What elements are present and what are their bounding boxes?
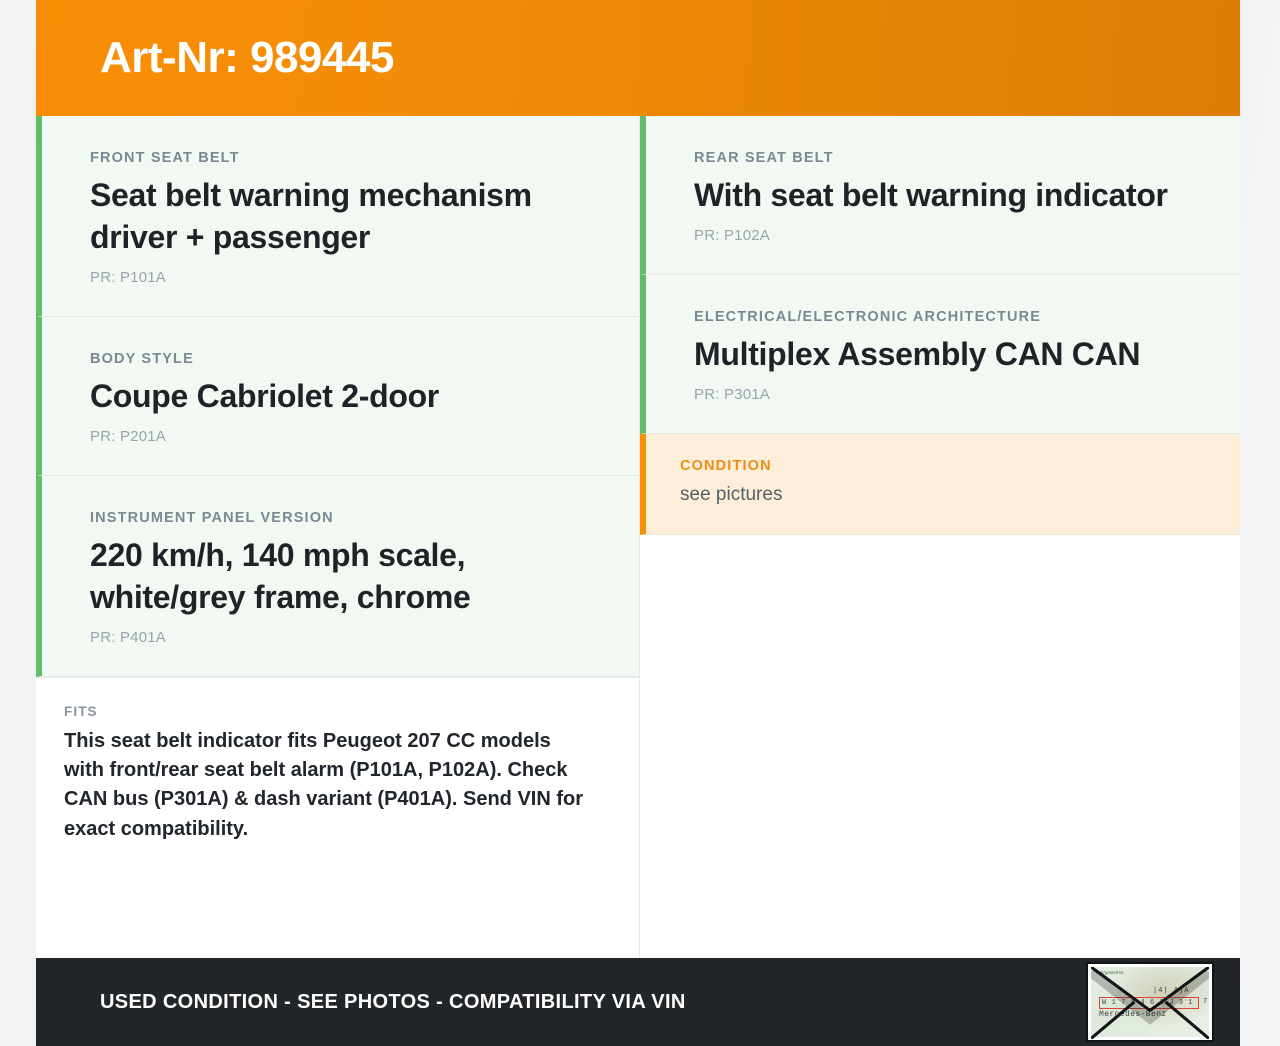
- vin-document-thumbnail[interactable]: Fahrgestell-Nr. |4| AjA W 1 7 1 4 6 3 J …: [1086, 962, 1214, 1042]
- spec-cell-body-style[interactable]: BODY STYLE Coupe Cabriolet 2-door PR: P2…: [36, 317, 639, 476]
- spec-cell-instrument-panel[interactable]: INSTRUMENT PANEL VERSION 220 km/h, 140 m…: [36, 476, 639, 677]
- card-footer: USED CONDITION - SEE PHOTOS - COMPATIBIL…: [36, 958, 1240, 1046]
- spec-cell-electrical-architecture[interactable]: ELECTRICAL/ELECTRONIC ARCHITECTURE Multi…: [640, 275, 1240, 434]
- left-column-filler: [36, 872, 639, 958]
- spec-cell-front-seat-belt[interactable]: FRONT SEAT BELT Seat belt warning mechan…: [36, 116, 639, 317]
- condition-value: see pictures: [680, 483, 1196, 508]
- spec-pr-code: PR: P201A: [90, 428, 595, 445]
- spec-label: INSTRUMENT PANEL VERSION: [90, 510, 595, 526]
- footer-notice: USED CONDITION - SEE PHOTOS - COMPATIBIL…: [100, 991, 686, 1014]
- spec-cell-rear-seat-belt[interactable]: REAR SEAT BELT With seat belt warning in…: [640, 116, 1240, 275]
- spec-grid: FRONT SEAT BELT Seat belt warning mechan…: [36, 116, 1240, 958]
- fits-text: This seat belt indicator fits Peugeot 20…: [64, 727, 595, 845]
- card-header: Art-Nr: 989445: [36, 0, 1240, 116]
- spec-label: BODY STYLE: [90, 351, 595, 367]
- spec-value: Multiplex Assembly CAN CAN: [694, 334, 1196, 376]
- envelope-icon: [1091, 967, 1209, 1039]
- spec-pr-code: PR: P101A: [90, 269, 595, 286]
- spec-pr-code: PR: P102A: [694, 227, 1196, 244]
- spec-label: ELECTRICAL/ELECTRONIC ARCHITECTURE: [694, 309, 1196, 325]
- fits-panel: FITS This seat belt indicator fits Peuge…: [36, 677, 639, 873]
- spec-pr-code: PR: P401A: [90, 629, 595, 646]
- spec-cell-condition[interactable]: CONDITION see pictures: [640, 434, 1240, 535]
- fits-label: FITS: [64, 704, 595, 719]
- spec-value: Coupe Cabriolet 2-door: [90, 376, 595, 418]
- listing-card: Art-Nr: 989445 FRONT SEAT BELT Seat belt…: [36, 0, 1240, 1046]
- spec-value: With seat belt warning indicator: [694, 175, 1196, 217]
- condition-label: CONDITION: [680, 458, 1196, 474]
- spec-column-right: REAR SEAT BELT With seat belt warning in…: [640, 116, 1240, 958]
- spec-label: FRONT SEAT BELT: [90, 150, 595, 166]
- spec-value: 220 km/h, 140 mph scale, white/grey fram…: [90, 535, 595, 619]
- page-title: Art-Nr: 989445: [100, 35, 394, 81]
- right-column-filler: [640, 535, 1240, 959]
- spec-column-left: FRONT SEAT BELT Seat belt warning mechan…: [36, 116, 640, 958]
- spec-value: Seat belt warning mechanism driver + pas…: [90, 175, 595, 259]
- spec-label: REAR SEAT BELT: [694, 150, 1196, 166]
- spec-pr-code: PR: P301A: [694, 386, 1196, 403]
